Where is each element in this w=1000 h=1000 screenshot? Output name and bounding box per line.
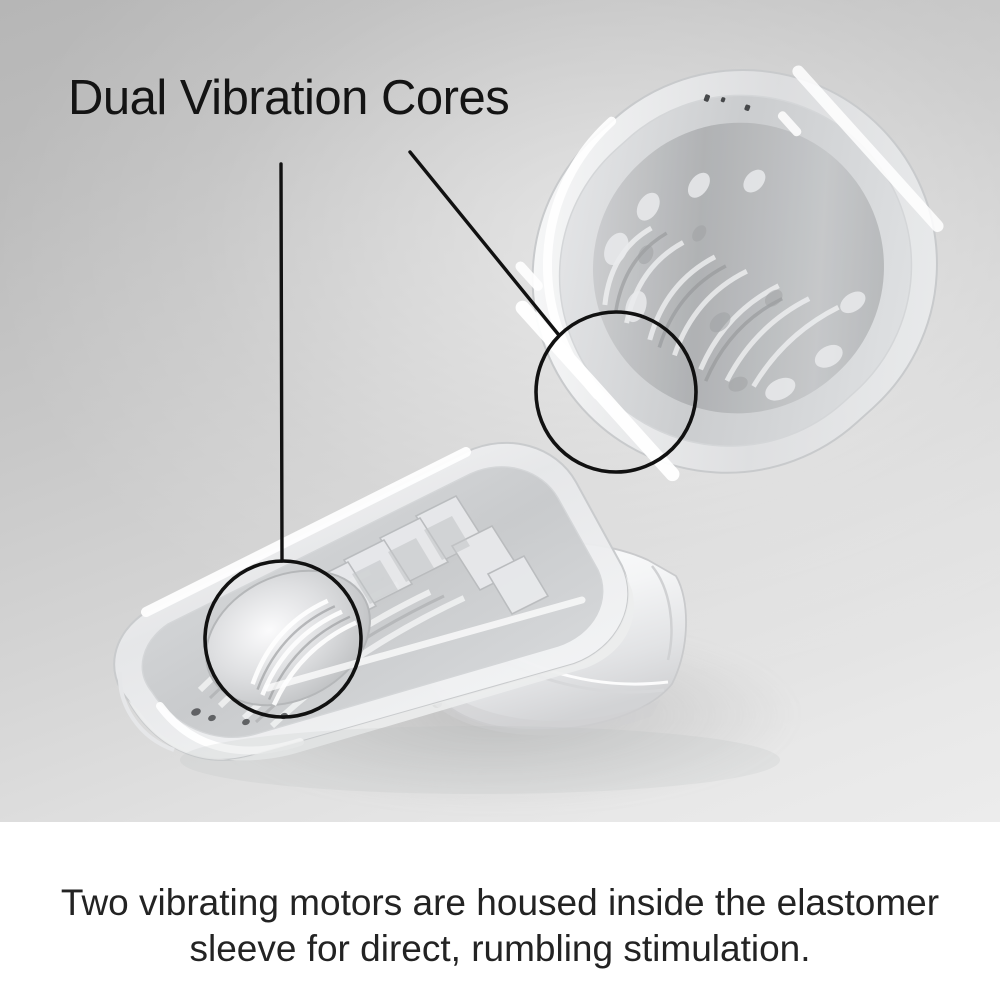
caption-line-1: Two vibrating motors are housed inside t… xyxy=(61,880,939,926)
product-photo: Dual Vibration Cores xyxy=(0,0,1000,822)
caption-panel: Two vibrating motors are housed inside t… xyxy=(0,822,1000,1000)
page-title: Dual Vibration Cores xyxy=(68,72,509,124)
caption-line-2: sleeve for direct, rumbling stimulation. xyxy=(189,926,810,972)
product-feature-image: Dual Vibration Cores Two vibrating motor… xyxy=(0,0,1000,1000)
